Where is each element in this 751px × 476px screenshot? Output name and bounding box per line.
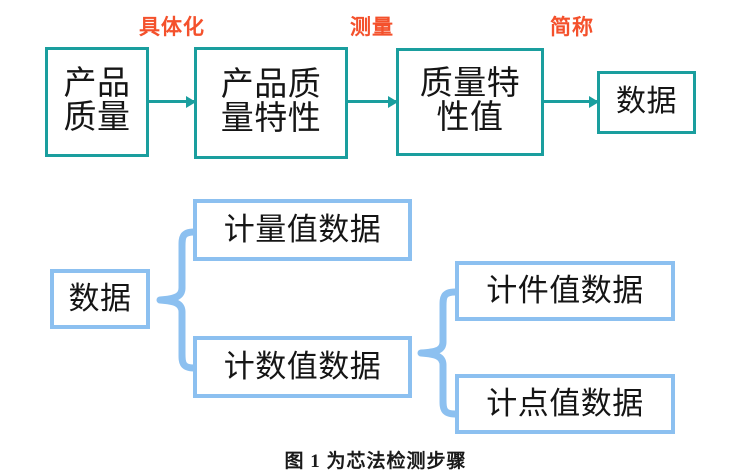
figure-caption: 图 1 为芯法检测步骤	[0, 446, 751, 473]
flow-box-data: 数据	[597, 71, 696, 134]
flow-box-product-quality: 产品 质量	[45, 47, 149, 157]
flow-arrow-1-icon	[149, 100, 194, 103]
flow-label-measure: 测量	[350, 11, 394, 41]
tree-node-count-of-units-data: 计件值数据	[455, 261, 675, 321]
flow-box-product-quality-characteristic: 产品质 量特性	[194, 47, 348, 159]
tree-node-variable-data: 计量值数据	[193, 199, 412, 261]
flow-box-quality-characteristic-value: 质量特 性值	[396, 48, 544, 156]
figure-canvas: 具体化 测量 简称 产品 质量 产品质 量特性 质量特 性值 数据 数据 计量值…	[0, 0, 751, 476]
flow-arrow-2-icon	[348, 100, 396, 103]
tree-node-count-of-defects-data: 计点值数据	[455, 374, 675, 434]
flow-arrow-3-icon	[544, 100, 597, 103]
flow-label-specify: 具体化	[139, 11, 205, 41]
tree-node-attribute-data: 计数值数据	[193, 336, 412, 398]
tree-brace-2-icon	[417, 288, 457, 418]
tree-brace-1-icon	[156, 228, 196, 372]
flow-label-abbreviation: 简称	[550, 11, 594, 41]
tree-root-data: 数据	[50, 269, 150, 329]
